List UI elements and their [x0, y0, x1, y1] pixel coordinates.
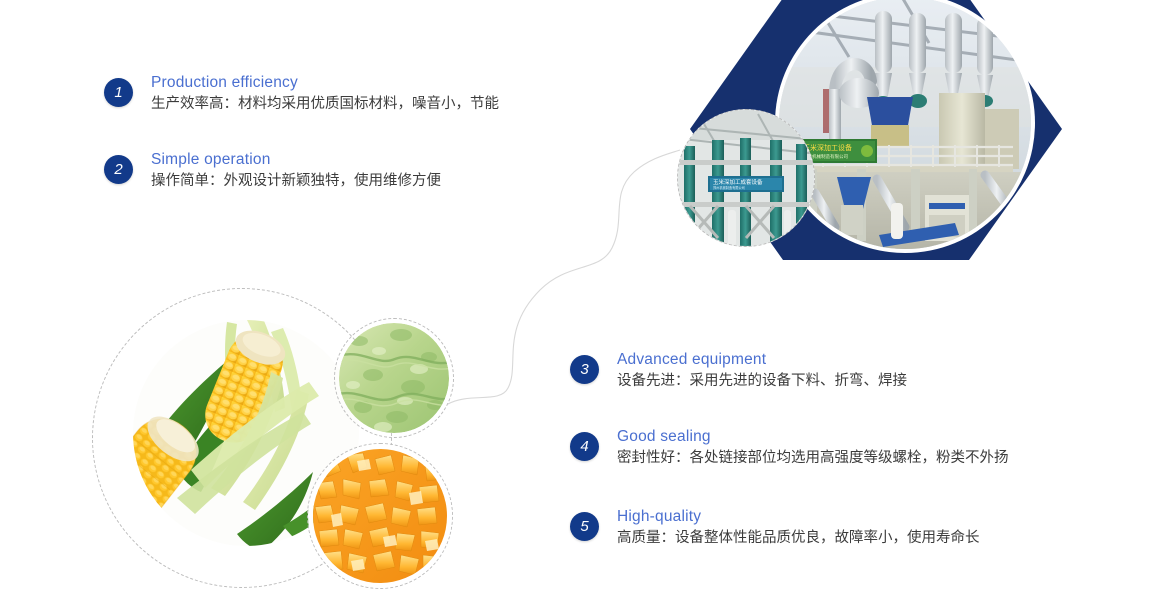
feature-badge: 2 [104, 155, 133, 184]
feature-badge: 3 [570, 355, 599, 384]
feature-item-4[interactable]: 4 Good sealing 密封性好：各处链接部位均选用高强度等级螺栓，粉类不… [570, 432, 1009, 469]
feature-item-3[interactable]: 3 Advanced equipment 设备先进：采用先进的设备下料、折弯、焊… [570, 355, 907, 392]
green-paste-photo [339, 323, 449, 433]
feature-description: 高质量：设备整体性能品质优良，故障率小，使用寿命长 [617, 528, 980, 549]
factory-photo-large: 玉米深加工设备 郑州机械制造有限公司 [779, 0, 1031, 249]
page-root: 玉米深加工设备 郑州机械制造有限公司 [0, 0, 1154, 591]
factory-photo-small: 玉米深加工成套设备 郑州机械制造有限公司 [677, 109, 815, 247]
feature-item-1[interactable]: 1 Production efficiency 生产效率高：材料均采用优质国标材… [104, 78, 499, 115]
feature-heading: Advanced equipment [617, 350, 907, 370]
feature-badge: 5 [570, 512, 599, 541]
feature-heading: Production efficiency [151, 73, 499, 93]
feature-heading: Simple operation [151, 150, 441, 170]
feature-description: 设备先进：采用先进的设备下料、折弯、焊接 [617, 371, 907, 392]
feature-heading: Good sealing [617, 427, 1009, 447]
feature-item-5[interactable]: 5 High-quality 高质量：设备整体性能品质优良，故障率小，使用寿命长 [570, 512, 980, 549]
feature-heading: High-quality [617, 507, 980, 527]
svg-text:玉米深加工成套设备: 玉米深加工成套设备 [713, 178, 763, 186]
corn-grits-photo [313, 449, 447, 583]
feature-description: 密封性好：各处链接部位均选用高强度等级螺栓，粉类不外扬 [617, 448, 1009, 469]
feature-badge: 1 [104, 78, 133, 107]
feature-item-2[interactable]: 2 Simple operation 操作简单：外观设计新颖独特，使用维修方便 [104, 155, 441, 192]
feature-badge: 4 [570, 432, 599, 461]
feature-description: 操作简单：外观设计新颖独特，使用维修方便 [151, 171, 441, 192]
svg-text:郑州机械制造有限公司: 郑州机械制造有限公司 [713, 185, 745, 190]
feature-description: 生产效率高：材料均采用优质国标材料，噪音小，节能 [151, 94, 499, 115]
